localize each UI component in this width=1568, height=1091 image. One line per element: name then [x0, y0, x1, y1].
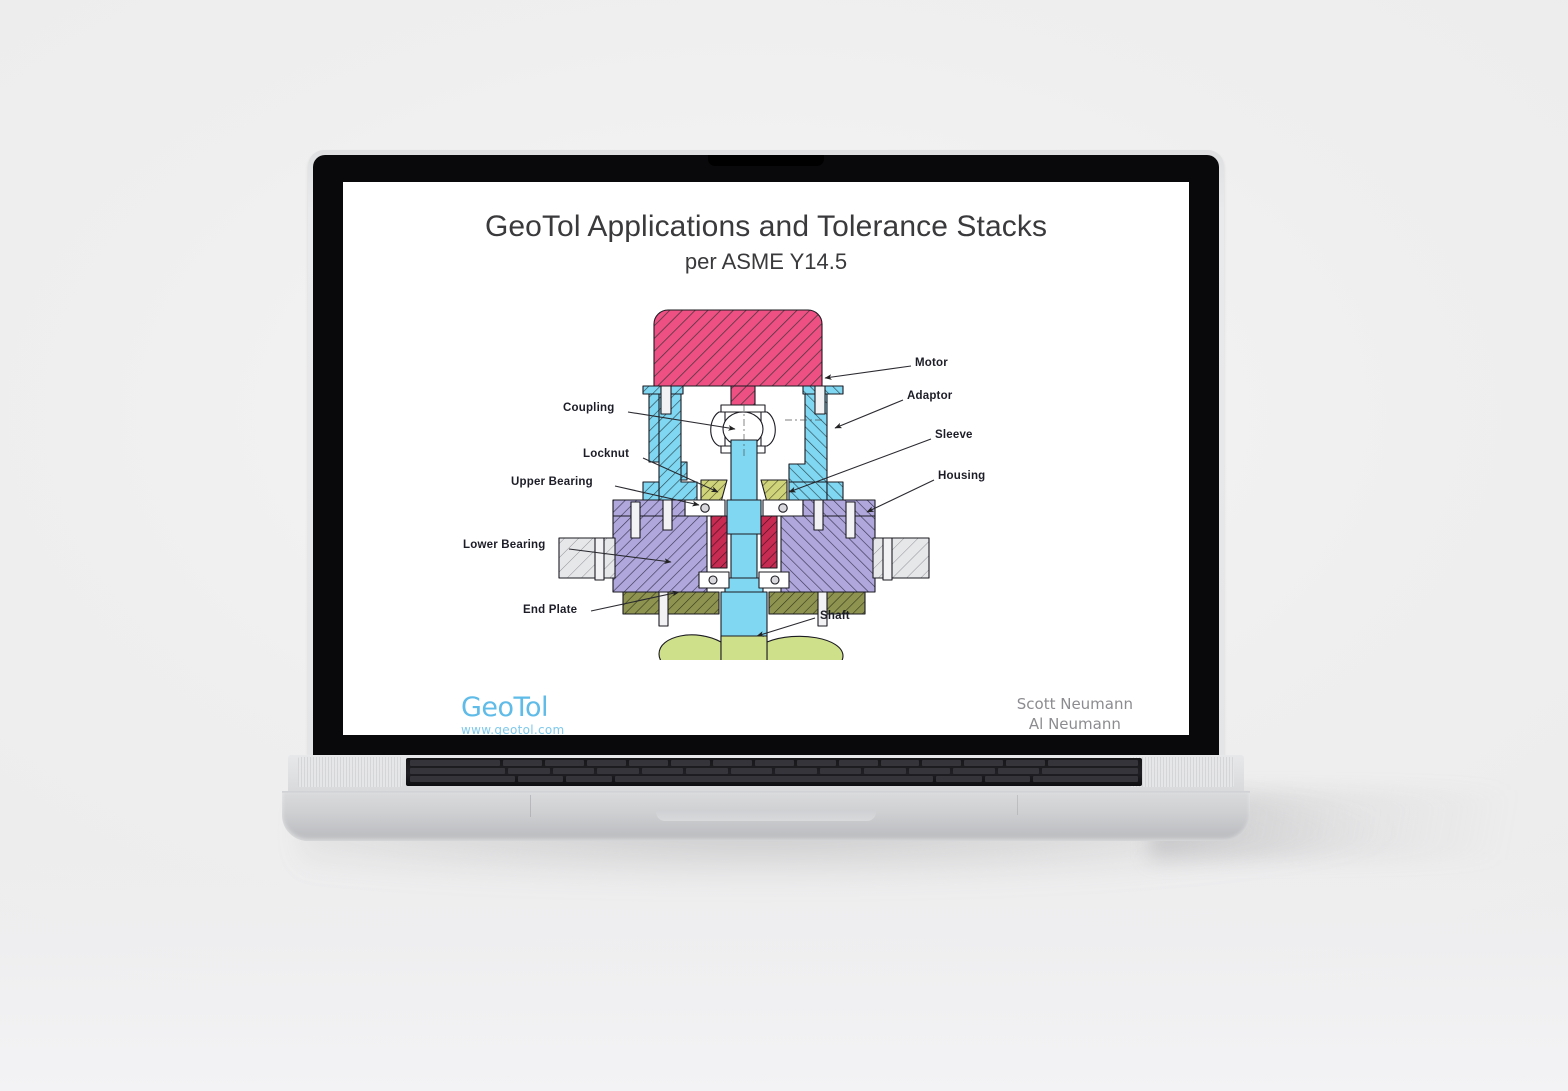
adaptor-left-foot — [643, 482, 659, 500]
laptop-keyboard[interactable] — [406, 758, 1142, 786]
page-subtitle: per ASME Y14.5 — [343, 249, 1189, 275]
scene: GeoTol Applications and Tolerance Stacks… — [0, 0, 1568, 1091]
shaft-step — [725, 578, 763, 592]
part-end-plate-left — [623, 592, 719, 614]
bolt-endplate-left — [659, 592, 668, 626]
leader-motor — [825, 366, 911, 378]
author-2: Al Neumann — [1017, 714, 1133, 734]
upper-bearing-ball-right — [779, 504, 787, 512]
part-impeller-left — [659, 635, 721, 660]
part-locknut-right — [761, 480, 787, 502]
mounting-plate-left — [559, 538, 615, 578]
lower-bearing-ball-left — [709, 576, 717, 584]
page-title: GeoTol Applications and Tolerance Stacks — [343, 210, 1189, 244]
part-sleeve-right — [761, 516, 777, 568]
mounting-plate-right — [873, 538, 929, 578]
label-shaft: Shaft — [820, 610, 850, 622]
bolt-base-left — [595, 538, 604, 580]
impeller-hub — [721, 636, 767, 660]
geotol-logo: GeoTol www.geotol.com — [461, 694, 565, 735]
label-adaptor: Adaptor — [907, 390, 952, 402]
label-sleeve: Sleeve — [935, 429, 973, 441]
keyboard-row-function — [410, 760, 1138, 766]
label-upper-bearing: Upper Bearing — [511, 476, 593, 488]
logo-url: www.geotol.com — [461, 723, 565, 735]
label-lower-bearing: Lower Bearing — [463, 539, 545, 551]
upper-bearing-ball-left — [701, 504, 709, 512]
assembly-cross-section-figure: Motor Coupling Adaptor Locknut Sleeve Up… — [463, 300, 1083, 660]
lid-open-notch[interactable] — [656, 810, 876, 821]
keyboard-row-home — [410, 768, 1138, 774]
bolt-adaptor-right — [814, 500, 823, 530]
part-housing-left — [613, 516, 707, 592]
label-motor: Motor — [915, 357, 948, 369]
trackpad-seam-left — [530, 795, 531, 817]
bolt-housing-right — [846, 502, 855, 538]
part-locknut-left — [701, 480, 727, 502]
shaft-mid — [727, 500, 761, 534]
shaft-lower — [731, 534, 757, 578]
camera-notch — [708, 155, 824, 166]
adaptor-right-foot — [827, 482, 843, 500]
label-housing: Housing — [938, 470, 985, 482]
label-coupling: Coupling — [563, 402, 614, 414]
label-locknut: Locknut — [583, 448, 629, 460]
laptop-base — [282, 755, 1250, 845]
speaker-grille-right — [1130, 757, 1234, 787]
keyboard-row-space — [410, 776, 1138, 782]
part-end-plate-right — [769, 592, 865, 614]
part-impeller-right — [767, 636, 843, 660]
laptop-lid: GeoTol Applications and Tolerance Stacks… — [308, 150, 1224, 758]
laptop-screen[interactable]: GeoTol Applications and Tolerance Stacks… — [343, 182, 1189, 735]
bolt-base-right — [883, 538, 892, 580]
leader-housing — [867, 480, 934, 512]
presentation-slide: GeoTol Applications and Tolerance Stacks… — [343, 182, 1189, 735]
part-sleeve-left — [711, 516, 727, 568]
leader-adaptor — [835, 400, 903, 428]
author-1: Scott Neumann — [1017, 694, 1133, 714]
part-housing-right — [781, 516, 875, 592]
authors-block: Scott Neumann Al Neumann — [1017, 694, 1133, 735]
label-end-plate: End Plate — [523, 604, 577, 616]
speaker-grille-left — [298, 757, 402, 787]
bolt-motor-left — [661, 386, 671, 414]
bolt-motor-right — [815, 386, 825, 414]
display-bezel: GeoTol Applications and Tolerance Stacks… — [313, 155, 1219, 758]
housing-top-left — [613, 500, 685, 516]
bolt-adaptor-left — [663, 500, 672, 530]
bolt-housing-left — [631, 502, 640, 538]
logo-wordmark: GeoTol — [461, 694, 565, 721]
part-motor — [654, 310, 822, 386]
coupling-top-collar — [721, 405, 765, 412]
lower-bearing-ball-right — [771, 576, 779, 584]
trackpad-seam-right — [1017, 795, 1018, 815]
